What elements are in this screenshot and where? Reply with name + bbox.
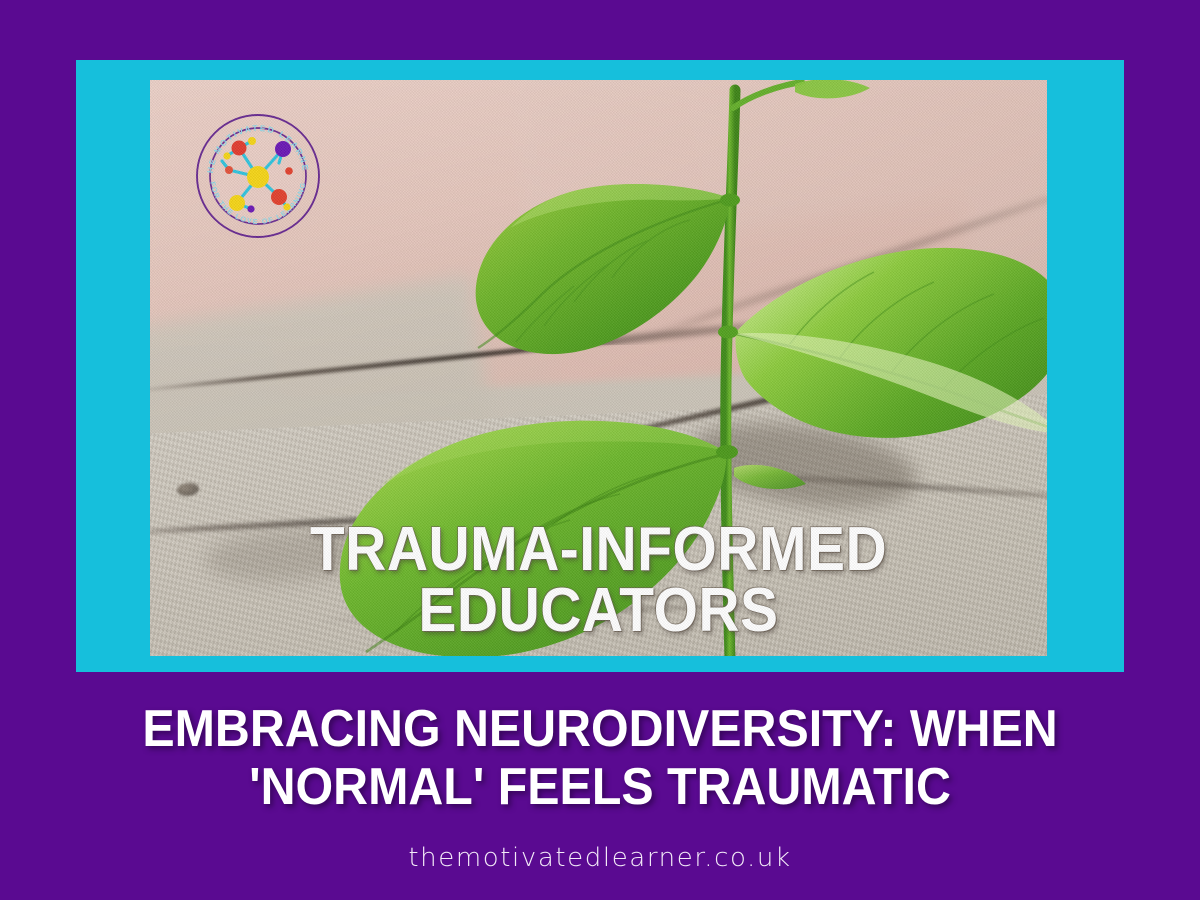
social-media-poster: THE MOTIVATED LEARNER FOR THE LOVE OF LE… (0, 0, 1200, 900)
headline-line-2: 'NORMAL' FEELS TRAUMATIC (42, 758, 1158, 816)
photo-overlay-title: TRAUMA-INFORMED EDUCATORS (186, 520, 1011, 642)
headline-line-1: EMBRACING NEURODIVERSITY: WHEN (142, 700, 1057, 758)
website-url: themotivatedlearner.co.uk (0, 843, 1200, 873)
hero-photo: THE MOTIVATED LEARNER FOR THE LOVE OF LE… (150, 80, 1047, 656)
poster-headline: EMBRACING NEURODIVERSITY: WHEN 'NORMAL' … (42, 700, 1158, 816)
photo-title-line-2: EDUCATORS (186, 581, 1011, 642)
photo-title-line-1: TRAUMA-INFORMED (310, 515, 887, 584)
the-motivated-learner-logo: THE MOTIVATED LEARNER FOR THE LOVE OF LE… (195, 113, 321, 239)
